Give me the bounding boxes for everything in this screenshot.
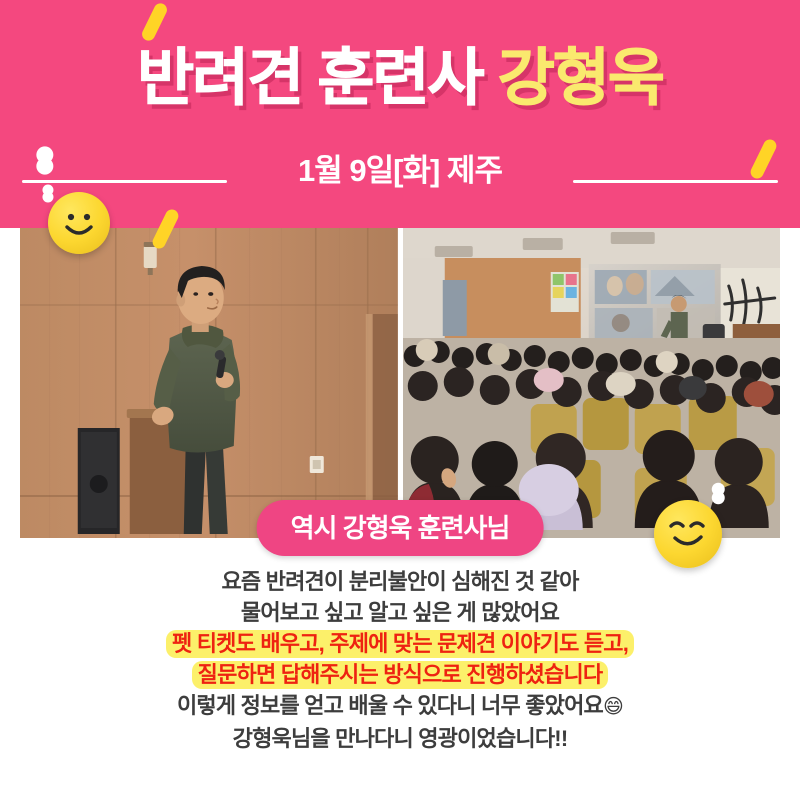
promo-card: 반려견 훈련사 강형욱 1월 9일[화] 제주 <box>0 0 800 800</box>
title-main: 반려견 훈련사 <box>137 44 482 113</box>
smiley-face-icon <box>48 192 110 254</box>
review-text-block: 요즘 반려견이 분리불안이 심해진 것 같아 물어보고 싶고 알고 싶은 게 많… <box>0 566 800 754</box>
review-line-text: 이렇게 정보를 얻고 배울 수 있다니 너무 좋았어요 <box>177 693 603 718</box>
subtitle-date-location: 1월 9일[화] 제주 <box>0 152 800 189</box>
review-line: 이렇게 정보를 얻고 배울 수 있다니 너무 좋았어요😄 <box>0 690 800 723</box>
header-banner: 반려견 훈련사 강형욱 1월 9일[화] 제주 <box>0 0 800 228</box>
status-badge: 역시 강형욱 훈련사님 <box>257 500 544 556</box>
highlight-mark: 질문하면 답해주시는 방식으로 진행하셨습니다 <box>192 661 609 689</box>
photo-speaker <box>20 228 398 538</box>
review-line: 물어보고 싶고 알고 싶은 게 많았어요 <box>0 597 800 628</box>
review-line: 강형욱님을 만나다니 영광이었습니다!! <box>0 723 800 754</box>
highlight-mark: 펫 티켓도 배우고, 주제에 맞는 문제견 이야기도 듣고, <box>166 630 634 658</box>
title-highlight: 강형욱 <box>498 44 663 113</box>
grinning-face-emoji: 😄 <box>603 696 623 718</box>
diagonal-dash-decoration <box>140 1 169 43</box>
page-title: 반려견 훈련사 강형욱 <box>0 48 800 110</box>
review-line: 요즘 반려견이 분리불안이 심해진 것 같아 <box>0 566 800 597</box>
photo-gallery <box>20 228 780 538</box>
review-line-highlighted: 질문하면 답해주시는 방식으로 진행하셨습니다 <box>0 659 800 690</box>
winking-face-icon <box>654 500 722 568</box>
review-line-highlighted: 펫 티켓도 배우고, 주제에 맞는 문제견 이야기도 듣고, <box>0 628 800 659</box>
